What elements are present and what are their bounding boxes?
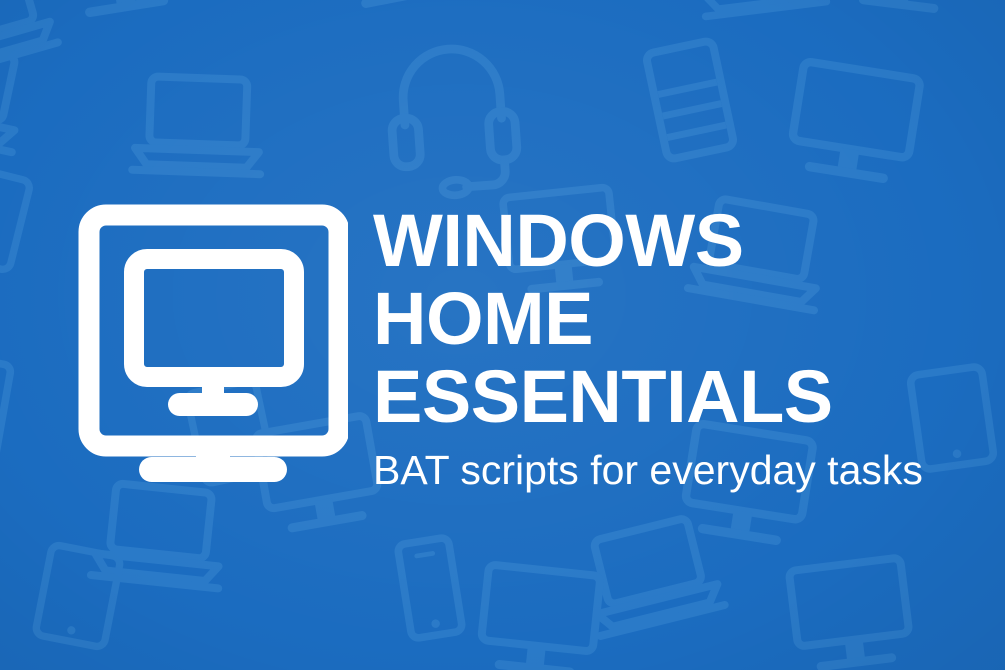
nested-monitor-icon — [78, 203, 348, 483]
headline-line-2: HOME — [373, 282, 973, 356]
subtitle: BAT scripts for everyday tasks — [373, 446, 973, 494]
headline-line-3: ESSENTIALS — [373, 360, 973, 434]
headline-line-1: WINDOWS — [373, 204, 973, 278]
promo-banner: WINDOWS HOME ESSENTIALS BAT scripts for … — [0, 0, 1005, 670]
title-block: WINDOWS HOME ESSENTIALS BAT scripts for … — [373, 198, 973, 494]
